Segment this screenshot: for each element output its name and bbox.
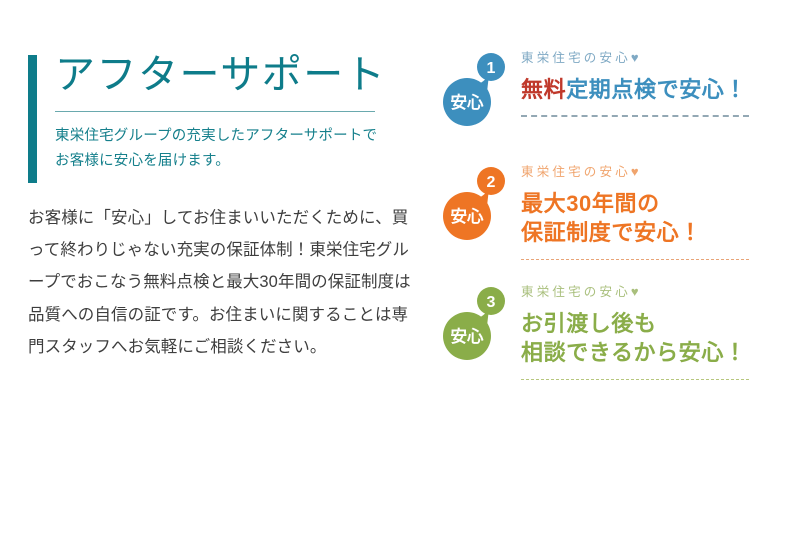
headline-line-2: 保証制度で安心！: [521, 218, 763, 247]
promise-divider: [521, 259, 749, 260]
promise-eyebrow: 東栄住宅の安心♥: [521, 164, 763, 180]
promise-divider: [521, 379, 749, 380]
eyebrow-text: 東栄住宅の安心: [521, 165, 631, 179]
headline-accent: 無料: [521, 77, 566, 102]
page-subtitle: 東栄住宅グループの充実したアフターサポートで お客様に安心を届けます。: [55, 124, 418, 174]
accent-bar: [28, 55, 37, 183]
subtitle-line-1: 東栄住宅グループの充実したアフターサポートで: [55, 124, 418, 149]
intro-column: アフターサポート 東栄住宅グループの充実したアフターサポートで お客様に安心を届…: [28, 50, 418, 379]
promises-column: 1 安心 東栄住宅の安心♥ 無料定期点検で安心！ 2 安心: [443, 48, 763, 380]
eyebrow-text: 東栄住宅の安心: [521, 51, 631, 65]
page-title: アフターサポート: [55, 50, 418, 99]
assurance-badge-1: 1 安心: [443, 52, 517, 130]
promise-item: 1 安心 東栄住宅の安心♥ 無料定期点検で安心！: [443, 48, 763, 140]
badge-number-text: 1: [487, 60, 496, 77]
heart-icon: ♥: [631, 284, 639, 299]
promise-eyebrow: 東栄住宅の安心♥: [521, 284, 763, 300]
subtitle-line-2: お客様に安心を届けます。: [55, 149, 418, 174]
assurance-badge-3: 3 安心: [443, 286, 517, 364]
headline-line-1: お引渡し後も: [521, 309, 763, 338]
heart-icon: ♥: [631, 50, 639, 65]
badge-word-text: 安心: [451, 92, 485, 112]
headline-line-2: 相談できるから安心！: [521, 338, 763, 367]
promise-headline: お引渡し後も 相談できるから安心！: [521, 309, 763, 368]
headline-line-1: 最大30年間の: [521, 189, 763, 218]
heart-icon: ♥: [631, 164, 639, 179]
assurance-badge-2: 2 安心: [443, 166, 517, 244]
promise-body: 東栄住宅の安心♥ 最大30年間の 保証制度で安心！: [521, 162, 763, 260]
eyebrow-text: 東栄住宅の安心: [521, 285, 631, 299]
headline-rest: 定期点検で安心！: [566, 77, 747, 102]
badge-word-text: 安心: [451, 326, 485, 346]
title-block: アフターサポート 東栄住宅グループの充実したアフターサポートで お客様に安心を届…: [28, 50, 418, 174]
body-paragraph: お客様に「安心」してお住まいいただくために、買って終わりじゃない充実の保証体制！…: [28, 202, 420, 363]
promise-item: 2 安心 東栄住宅の安心♥ 最大30年間の 保証制度で安心！: [443, 162, 763, 260]
promise-body: 東栄住宅の安心♥ 無料定期点検で安心！: [521, 48, 763, 117]
title-divider: [55, 111, 375, 112]
promise-headline: 無料定期点検で安心！: [521, 75, 763, 104]
promise-divider: [521, 115, 749, 117]
badge-number-text: 3: [487, 294, 496, 311]
promise-eyebrow: 東栄住宅の安心♥: [521, 50, 763, 66]
promise-headline: 最大30年間の 保証制度で安心！: [521, 189, 763, 248]
promise-body: 東栄住宅の安心♥ お引渡し後も 相談できるから安心！: [521, 282, 763, 380]
badge-word-text: 安心: [451, 206, 485, 226]
promise-item: 3 安心 東栄住宅の安心♥ お引渡し後も 相談できるから安心！: [443, 282, 763, 380]
badge-number-text: 2: [487, 174, 496, 191]
